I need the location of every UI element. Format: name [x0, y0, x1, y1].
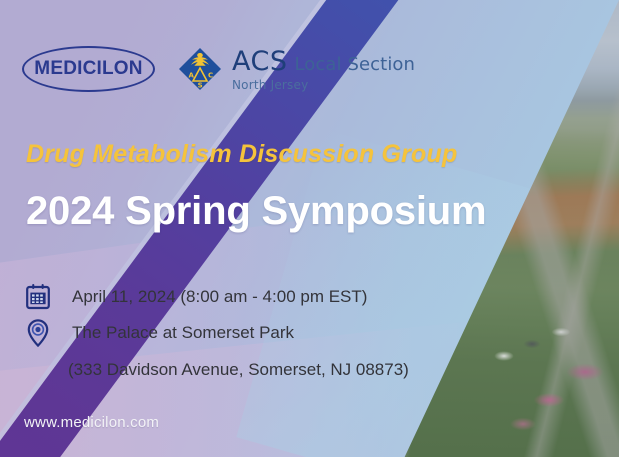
svg-text:S: S	[198, 82, 203, 90]
acs-diamond-eagle-icon: A C S	[177, 46, 223, 92]
acs-primary-line: ACS Local Section	[232, 48, 415, 75]
event-banner: MEDICILON A C S ACS Local Section	[0, 0, 619, 457]
event-title: 2024 Spring Symposium	[26, 189, 486, 234]
website-url: www.medicilon.com	[24, 414, 159, 431]
svg-text:C: C	[208, 72, 213, 80]
location-pin-icon	[24, 318, 52, 348]
event-address: (333 Davidson Avenue, Somerset, NJ 08873…	[68, 360, 409, 380]
acs-acronym: ACS	[232, 48, 288, 75]
acs-chapter: North Jersey	[232, 79, 415, 91]
logo-row: MEDICILON A C S ACS Local Section	[22, 46, 415, 92]
event-date-text: April 11, 2024 (8:00 am - 4:00 pm EST)	[72, 287, 367, 307]
event-date-row: April 11, 2024 (8:00 am - 4:00 pm EST)	[24, 282, 367, 312]
event-kicker: Drug Metabolism Discussion Group	[26, 140, 457, 169]
acs-logo: A C S ACS Local Section North Jersey	[177, 46, 415, 92]
svg-text:A: A	[189, 72, 195, 80]
event-venue-row: The Palace at Somerset Park	[24, 318, 294, 348]
calendar-icon	[24, 282, 52, 312]
acs-tagline: Local Section	[295, 56, 416, 74]
acs-wordmark: ACS Local Section North Jersey	[232, 48, 415, 91]
medicilon-wordmark: MEDICILON	[34, 58, 142, 80]
event-venue-text: The Palace at Somerset Park	[72, 323, 294, 343]
medicilon-logo: MEDICILON	[22, 46, 155, 92]
